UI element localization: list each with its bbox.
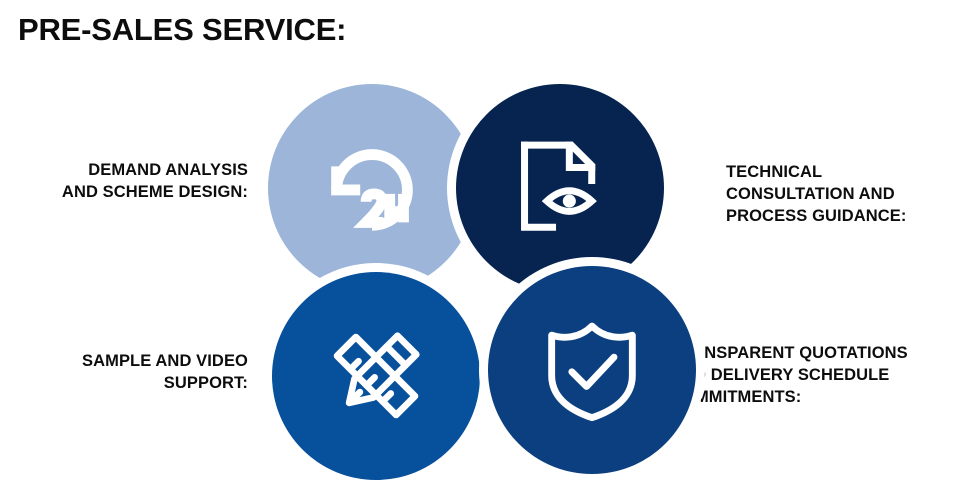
circle-cluster xyxy=(268,84,672,484)
label-line: AND SCHEME DESIGN: xyxy=(8,182,248,204)
clock-24-rotate-icon xyxy=(313,129,431,247)
circle-demand-analysis[interactable] xyxy=(268,84,476,292)
label-line: TECHNICAL xyxy=(726,162,958,184)
circle-technical-consultation[interactable] xyxy=(456,84,664,292)
label-transparent-quotations: TRANSPARENT QUOTATIONS AND DELIVERY SCHE… xyxy=(670,343,960,408)
pencil-ruler-crossed-icon xyxy=(319,319,433,433)
circle-transparent-quotations[interactable] xyxy=(488,266,696,474)
label-line: AND DELIVERY SCHEDULE xyxy=(670,365,960,387)
shield-check-icon xyxy=(537,315,647,425)
circle-sample-video-support[interactable] xyxy=(272,272,480,480)
label-line: PROCESS GUIDANCE: xyxy=(726,206,958,228)
label-line: DEMAND ANALYSIS xyxy=(8,160,248,182)
label-technical-consultation: TECHNICAL CONSULTATION AND PROCESS GUIDA… xyxy=(726,162,958,227)
page-title: PRE-SALES SERVICE: xyxy=(18,12,346,48)
label-line: CONSULTATION AND xyxy=(726,184,958,206)
document-eye-review-icon xyxy=(504,132,616,244)
label-sample-video-support: SAMPLE AND VIDEO SUPPORT: xyxy=(8,351,248,395)
label-line: COMMITMENTS: xyxy=(670,387,960,409)
label-demand-analysis: DEMAND ANALYSIS AND SCHEME DESIGN: xyxy=(8,160,248,204)
label-line: SAMPLE AND VIDEO xyxy=(8,351,248,373)
label-line: TRANSPARENT QUOTATIONS xyxy=(670,343,960,365)
label-line: SUPPORT: xyxy=(8,373,248,395)
